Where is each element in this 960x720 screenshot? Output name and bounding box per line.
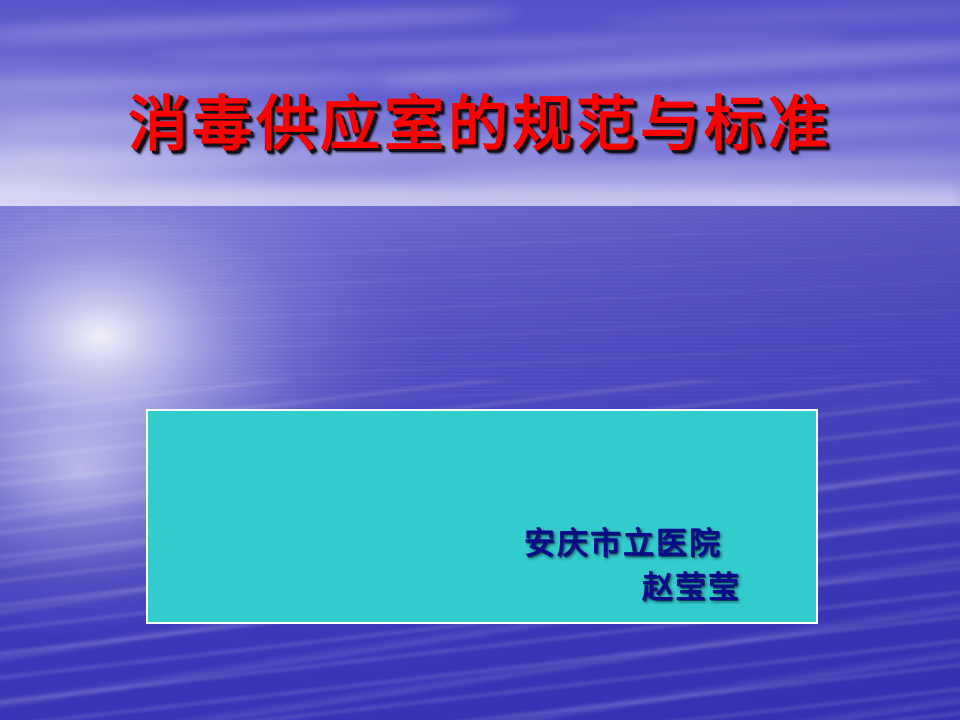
presentation-slide: 消毒供应室的规范与标准 安庆市立医院 赵莹莹: [0, 0, 960, 720]
author-text-box[interactable]: 安庆市立医院 赵莹莹: [146, 409, 818, 624]
presenter-name-text: 赵莹莹: [524, 566, 798, 610]
slide-title: 消毒供应室的规范与标准: [0, 95, 960, 155]
author-text-group: 安庆市立医院 赵莹莹: [524, 522, 798, 610]
affiliation-text: 安庆市立医院: [524, 522, 798, 566]
